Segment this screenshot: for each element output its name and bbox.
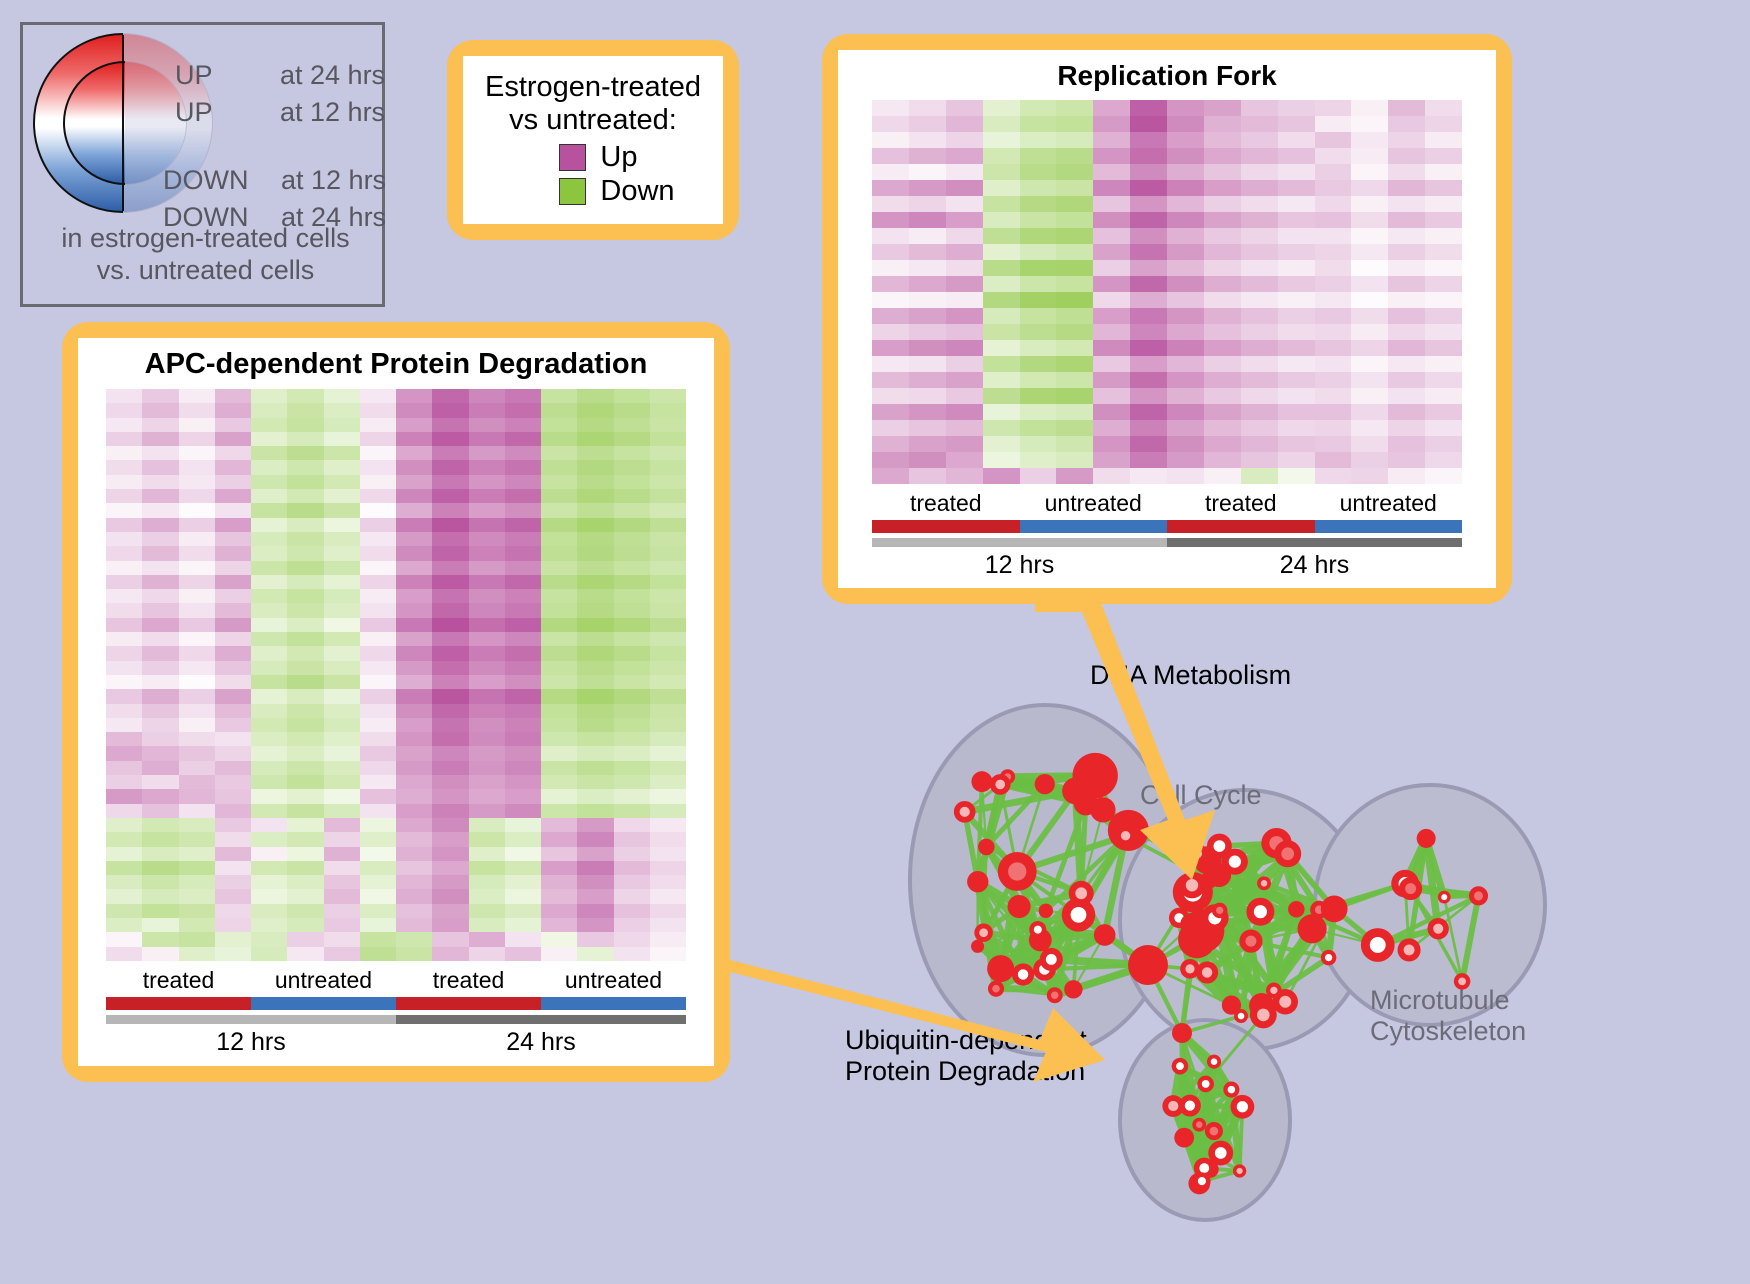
heatmap-cell	[106, 789, 142, 803]
network-node-core	[1216, 907, 1223, 914]
network-node-core	[1018, 969, 1028, 979]
heatmap-cell	[1315, 436, 1352, 452]
heatmap-cell	[650, 632, 686, 646]
heatmap-cell	[1241, 388, 1278, 404]
heatmap-cell	[1167, 228, 1204, 244]
heatmap-cell	[360, 689, 396, 703]
network-node[interactable]	[967, 871, 988, 892]
heatmap-cell	[215, 746, 251, 760]
heatmap-cell	[287, 875, 323, 889]
heatmap-cell	[251, 475, 287, 489]
heatmap-cell	[1167, 324, 1204, 340]
heatmap-cell	[179, 847, 215, 861]
heatmap-cell	[432, 589, 468, 603]
heatmap-cell	[469, 646, 505, 660]
heatmap-cell	[614, 775, 650, 789]
heatmap-cell	[432, 546, 468, 560]
heatmap-cell	[577, 632, 613, 646]
heatmap-cell	[106, 561, 142, 575]
heatmap-cell	[505, 618, 541, 632]
network-node-core	[1199, 1163, 1209, 1173]
heatmap-cell	[946, 388, 983, 404]
heatmap-cell	[1315, 340, 1352, 356]
heatmap-cell	[432, 432, 468, 446]
heatmap-cell	[577, 403, 613, 417]
heatmap-cell	[541, 732, 577, 746]
heatmap-cell	[1241, 308, 1278, 324]
heatmap-cell	[469, 661, 505, 675]
heatmap-cell	[396, 475, 432, 489]
network-node-core	[1404, 945, 1415, 956]
heatmap-cell	[983, 404, 1020, 420]
heatmap-cell	[946, 308, 983, 324]
heatmap-cell	[541, 789, 577, 803]
heatmap-cell	[1388, 228, 1425, 244]
heatmap-cell	[541, 446, 577, 460]
heatmap-cell	[142, 561, 178, 575]
heatmap-cell	[577, 789, 613, 803]
heatmap-cell	[1056, 404, 1093, 420]
network-node[interactable]	[1222, 995, 1241, 1014]
heatmap-cell	[215, 503, 251, 517]
heatmap-cell	[650, 818, 686, 832]
heatmap-cell	[1204, 340, 1241, 356]
heatmap-cell	[360, 603, 396, 617]
network-node-core	[1370, 937, 1386, 953]
heatmap-cell	[1020, 164, 1057, 180]
heatmap-cell	[287, 832, 323, 846]
heatmap-cell	[1315, 260, 1352, 276]
heatmap-cell	[179, 589, 215, 603]
heatmap-cell	[541, 675, 577, 689]
heatmap-cell	[142, 832, 178, 846]
heatmap-cell	[1351, 164, 1388, 180]
heatmap-cell	[909, 308, 946, 324]
heatmap-cell	[142, 875, 178, 889]
heatmap-cell	[251, 847, 287, 861]
network-node[interactable]	[1200, 871, 1217, 888]
heatmap-cell	[1351, 180, 1388, 196]
heatmap-cell	[1241, 100, 1278, 116]
network-node-core	[1214, 840, 1226, 852]
network-node[interactable]	[1288, 901, 1305, 918]
heatmap-cell	[1130, 420, 1167, 436]
heatmap-cell	[215, 618, 251, 632]
heatmap-cell	[614, 804, 650, 818]
heatmap-cell	[360, 832, 396, 846]
heatmap-cell	[1351, 388, 1388, 404]
heatmap-cell	[287, 618, 323, 632]
network-node[interactable]	[1064, 980, 1082, 998]
heatmap-cell	[360, 918, 396, 932]
heatmap-cell	[215, 575, 251, 589]
heatmap-cell	[946, 164, 983, 180]
heatmap-cell	[1167, 164, 1204, 180]
heatmap-cell	[287, 575, 323, 589]
network-node[interactable]	[1172, 1023, 1192, 1043]
heatmap-cell	[1241, 244, 1278, 260]
heatmap-cell	[1093, 308, 1130, 324]
heatmap-cell	[432, 475, 468, 489]
network-node-core	[1211, 1058, 1218, 1065]
heatmap-cell	[251, 889, 287, 903]
heatmap-cell	[1020, 100, 1057, 116]
heatmap-cell	[360, 718, 396, 732]
heatmap-cell	[251, 904, 287, 918]
heatmap-cell	[1093, 148, 1130, 164]
heatmap-cell	[1241, 228, 1278, 244]
network-node[interactable]	[971, 771, 992, 792]
heatmap-cell	[1056, 212, 1093, 228]
legend-time-up-12: at 12 hrs	[280, 97, 385, 128]
heatmap-cell	[251, 460, 287, 474]
heatmap-cell	[614, 904, 650, 918]
heatmap-cell	[1130, 372, 1167, 388]
heatmap-cell	[872, 132, 909, 148]
network-node[interactable]	[978, 839, 995, 856]
heatmap-cell	[1167, 292, 1204, 308]
heatmap-cell	[469, 575, 505, 589]
network-node[interactable]	[1008, 895, 1031, 918]
heatmap-cell	[909, 372, 946, 388]
heatmap-cell	[142, 589, 178, 603]
heatmap-cell	[1425, 132, 1462, 148]
heatmap-cell	[215, 889, 251, 903]
heatmap-cell	[983, 420, 1020, 436]
heatmap-cell	[872, 468, 909, 484]
heatmap-cell	[1241, 132, 1278, 148]
network-node-core	[1034, 926, 1042, 934]
colorwheel-legend-box: UPat 24 hrs UPat 12 hrs DOWNat 12 hrs DO…	[20, 22, 385, 307]
heatmap-cell	[946, 244, 983, 260]
heatmap-cell	[142, 818, 178, 832]
heatmap-cell	[1130, 340, 1167, 356]
time-seg-12	[106, 1015, 396, 1024]
heatmap-cell	[577, 432, 613, 446]
heatmap-cell	[215, 389, 251, 403]
heatmap-cell	[650, 661, 686, 675]
heatmap-cell	[215, 518, 251, 532]
heatmap-cell	[432, 832, 468, 846]
network-node-core	[1279, 996, 1291, 1008]
heatmap-cell	[469, 618, 505, 632]
heatmap-cell	[1093, 452, 1130, 468]
heatmap-cell	[1315, 196, 1352, 212]
heatmap-cell	[872, 292, 909, 308]
heatmap-cell	[1167, 148, 1204, 164]
network-node[interactable]	[1321, 895, 1348, 922]
heatmap-cell	[577, 575, 613, 589]
heatmap-cell	[1278, 436, 1315, 452]
heatmap-cell	[1241, 452, 1278, 468]
heatmap-cell	[251, 875, 287, 889]
heatmap-cell	[1204, 356, 1241, 372]
heatmap-cell	[614, 389, 650, 403]
heatmap-cell	[396, 432, 432, 446]
network-node[interactable]	[1297, 914, 1326, 943]
heatmap-cell	[1167, 132, 1204, 148]
heatmap-cell	[251, 561, 287, 575]
heatmap-cell	[1278, 388, 1315, 404]
heatmap-cell	[179, 861, 215, 875]
heatmap-cell	[983, 228, 1020, 244]
legend-row-up-24: UPat 24 hrs	[175, 60, 385, 91]
heatmap-cell	[541, 746, 577, 760]
heatmap-cell	[505, 575, 541, 589]
heatmap-cell	[142, 446, 178, 460]
heatmap-cell	[1425, 116, 1462, 132]
heatmap-cell	[650, 503, 686, 517]
time-label-24: 24 hrs	[396, 1028, 686, 1057]
heatmap-cell	[142, 475, 178, 489]
axis-group-3: untreated	[1315, 490, 1463, 517]
heatmap-cell	[360, 661, 396, 675]
axis-group-2: treated	[396, 967, 541, 994]
estrogen-legend-panel: Estrogen-treated vs untreated: Up Down	[447, 40, 739, 240]
heatmap-cell	[1020, 356, 1057, 372]
heatmap-cell	[1425, 372, 1462, 388]
protein-network-diagram: DNA Metabolism Cell Cycle Microtubule Cy…	[790, 615, 1750, 1279]
heatmap-cell	[215, 818, 251, 832]
heatmap-cell	[432, 789, 468, 803]
heatmap-cell	[577, 603, 613, 617]
network-node[interactable]	[1174, 1128, 1194, 1148]
network-node[interactable]	[1417, 829, 1436, 848]
heatmap-cell	[179, 904, 215, 918]
heatmap-cell	[1388, 180, 1425, 196]
heatmap-cell	[324, 475, 360, 489]
heatmap-cell	[1056, 468, 1093, 484]
heatmap-cell	[1425, 324, 1462, 340]
heatmap-cell	[983, 132, 1020, 148]
heatmap-cell	[1425, 260, 1462, 276]
heatmap-cell	[432, 389, 468, 403]
network-node-core	[1236, 1168, 1242, 1174]
heatmap-cell	[324, 789, 360, 803]
heatmap-cell	[541, 403, 577, 417]
heatmap-cell	[360, 475, 396, 489]
heatmap-cell	[251, 704, 287, 718]
network-node[interactable]	[1074, 791, 1098, 815]
heatmap-cell	[251, 618, 287, 632]
heatmap-cell	[872, 356, 909, 372]
heatmap-cell	[360, 818, 396, 832]
heatmap-cell	[1093, 260, 1130, 276]
heatmap-cell	[1130, 148, 1167, 164]
network-node[interactable]	[1128, 945, 1168, 985]
heatmap-cell	[215, 689, 251, 703]
heatmap-cell	[142, 761, 178, 775]
network-node-core	[1281, 847, 1294, 860]
heatmap-cell	[396, 889, 432, 903]
legend-item-up-label: Up	[600, 141, 637, 174]
heatmap-cell	[469, 818, 505, 832]
heatmap-cell	[360, 732, 396, 746]
heatmap-cell	[614, 832, 650, 846]
heatmap-cell	[1241, 164, 1278, 180]
heatmap-cell	[360, 889, 396, 903]
heatmap-cell	[541, 546, 577, 560]
network-node-core	[960, 807, 970, 817]
heatmap-cell	[287, 947, 323, 961]
heatmap-cell	[614, 618, 650, 632]
time-label-12: 12 hrs	[106, 1028, 396, 1057]
heatmap-cell	[1093, 436, 1130, 452]
network-node[interactable]	[1035, 774, 1055, 794]
heatmap-cell	[179, 446, 215, 460]
axis-group-3: untreated	[541, 967, 686, 994]
heatmap-cell	[1130, 292, 1167, 308]
heatmap-cell	[324, 889, 360, 903]
heatmap-cell	[469, 403, 505, 417]
heatmap-cell	[1388, 196, 1425, 212]
heatmap-cell	[614, 761, 650, 775]
heatmap-cell	[1278, 324, 1315, 340]
network-node[interactable]	[1180, 913, 1204, 937]
figure-canvas: UPat 24 hrs UPat 12 hrs DOWNat 12 hrs DO…	[0, 0, 1750, 1279]
heatmap-cell	[432, 889, 468, 903]
heatmap-cell	[396, 632, 432, 646]
heatmap-cell	[1204, 100, 1241, 116]
heatmap-cell	[1241, 260, 1278, 276]
heatmap-cell	[106, 603, 142, 617]
heatmap-cell	[1020, 388, 1057, 404]
estrogen-title-line-2: vs untreated:	[485, 104, 701, 136]
heatmap-cell	[909, 452, 946, 468]
heatmap-cell	[106, 804, 142, 818]
heatmap-cell	[505, 389, 541, 403]
colorwheel-axis	[122, 35, 124, 211]
heatmap-cell	[469, 932, 505, 946]
heatmap-cell	[324, 618, 360, 632]
heatmap-cell	[1278, 132, 1315, 148]
heatmap-cell	[469, 789, 505, 803]
heatmap-cell	[1241, 196, 1278, 212]
heatmap-cell	[614, 718, 650, 732]
heatmap-cell	[179, 632, 215, 646]
heatmap-cell	[469, 861, 505, 875]
network-node-core	[1202, 967, 1212, 977]
heatmap-cell	[251, 761, 287, 775]
heatmap-cell	[360, 575, 396, 589]
heatmap-cell	[541, 889, 577, 903]
heatmap-cell	[505, 861, 541, 875]
network-node-core	[1185, 964, 1194, 973]
heatmap-cell	[577, 818, 613, 832]
heatmap-cell	[215, 489, 251, 503]
heatmap-cell	[1351, 420, 1388, 436]
heatmap-cell	[983, 196, 1020, 212]
heatmap-cell	[1425, 436, 1462, 452]
heatmap-cell	[1351, 452, 1388, 468]
heatmap-cell	[909, 356, 946, 372]
heatmap-cell	[469, 518, 505, 532]
heatmap-cell	[1241, 180, 1278, 196]
heatmap-cell	[106, 861, 142, 875]
heatmap-cell	[106, 503, 142, 517]
heatmap-cell	[396, 675, 432, 689]
heatmap-cell	[650, 847, 686, 861]
heatmap-cell	[142, 675, 178, 689]
heatmap-cell	[1388, 292, 1425, 308]
heatmap-cell	[215, 532, 251, 546]
heatmap-cell	[614, 561, 650, 575]
heatmap-cell	[287, 460, 323, 474]
heatmap-cell	[360, 932, 396, 946]
heatmap-cell	[872, 148, 909, 164]
heatmap-cell	[1130, 452, 1167, 468]
heatmap-cell	[577, 503, 613, 517]
heatmap-cell	[505, 432, 541, 446]
heatmap-cell	[106, 618, 142, 632]
heatmap-cell	[251, 661, 287, 675]
heatmap-cell	[106, 704, 142, 718]
network-node[interactable]	[1039, 904, 1053, 918]
heatmap-cell	[650, 732, 686, 746]
network-node-core	[1196, 1121, 1203, 1128]
heatmap-cell	[251, 789, 287, 803]
heatmap-cell	[251, 575, 287, 589]
heatmap-cell	[1351, 196, 1388, 212]
heatmap-cell	[106, 475, 142, 489]
heatmap-cell	[614, 889, 650, 903]
heatmap-cell	[577, 904, 613, 918]
heatmap-cell	[1241, 116, 1278, 132]
heatmap-cell	[1204, 388, 1241, 404]
heatmap-cell	[983, 164, 1020, 180]
heatmap-cell	[1278, 148, 1315, 164]
heatmap-cell	[541, 704, 577, 718]
heatmap-cell	[1351, 100, 1388, 116]
heatmap-cell	[909, 260, 946, 276]
heatmap-cell	[324, 718, 360, 732]
heatmap-cell	[872, 260, 909, 276]
heatmap-cell	[251, 775, 287, 789]
heatmap-cell	[614, 575, 650, 589]
heatmap-cell	[1020, 180, 1057, 196]
heatmap-cell	[577, 832, 613, 846]
heatmap-cell	[1388, 404, 1425, 420]
heatmap-cell	[251, 532, 287, 546]
heatmap-cell	[983, 260, 1020, 276]
heatmap-cell	[650, 446, 686, 460]
heatmap-cell	[541, 689, 577, 703]
replication-treatment-bar	[872, 520, 1462, 533]
heatmap-cell	[360, 875, 396, 889]
heatmap-cell	[872, 436, 909, 452]
heatmap-cell	[946, 228, 983, 244]
heatmap-cell	[251, 432, 287, 446]
heatmap-cell	[577, 418, 613, 432]
heatmap-cell	[251, 589, 287, 603]
heatmap-cell	[1167, 436, 1204, 452]
heatmap-cell	[432, 875, 468, 889]
heatmap-cell	[324, 832, 360, 846]
heatmap-cell	[872, 452, 909, 468]
network-node-core	[1186, 879, 1198, 891]
heatmap-cell	[1388, 324, 1425, 340]
heatmap-cell	[1204, 132, 1241, 148]
heatmap-cell	[946, 260, 983, 276]
heatmap-cell	[1093, 164, 1130, 180]
heatmap-cell	[469, 546, 505, 560]
network-node[interactable]	[987, 955, 1014, 982]
network-node[interactable]	[1094, 924, 1116, 946]
heatmap-cell	[946, 404, 983, 420]
heatmap-cell	[614, 632, 650, 646]
heatmap-cell	[360, 389, 396, 403]
heatmap-cell	[215, 932, 251, 946]
